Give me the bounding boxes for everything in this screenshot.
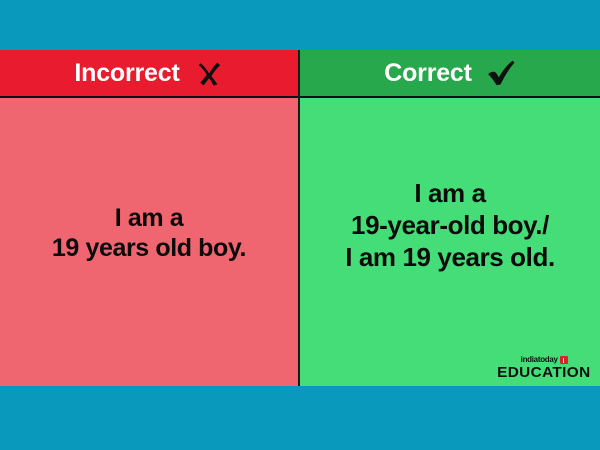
- correct-sentence-line-2: 19-year-old boy./: [306, 210, 594, 242]
- correct-column: Correct I am a 19-year-old boy./ I am 19…: [300, 50, 600, 386]
- correct-header-label: Correct: [384, 61, 472, 86]
- correct-column-header: Correct: [300, 50, 600, 98]
- cross-mark-icon: [194, 58, 224, 88]
- incorrect-header-label: Incorrect: [74, 61, 179, 86]
- incorrect-sentence-line-2: 19 years old boy.: [6, 233, 292, 264]
- comparison-infographic: Incorrect I am a 19 years old boy. Corre…: [0, 50, 600, 386]
- indiatoday-education-logo: indiatoday EDUCATION: [498, 356, 590, 380]
- brand-section-label: EDUCATION: [497, 365, 590, 380]
- incorrect-sentence: I am a 19 years old boy.: [6, 203, 292, 264]
- incorrect-column: Incorrect I am a 19 years old boy.: [0, 50, 300, 386]
- incorrect-column-body: I am a 19 years old boy.: [0, 98, 298, 386]
- brand-name-label: indiatoday: [521, 356, 558, 364]
- incorrect-sentence-line-1: I am a: [6, 203, 292, 234]
- correct-sentence: I am a 19-year-old boy./ I am 19 years o…: [306, 178, 594, 273]
- indiatoday-badge-icon: [560, 356, 568, 364]
- correct-column-body: I am a 19-year-old boy./ I am 19 years o…: [300, 98, 600, 386]
- incorrect-column-header: Incorrect: [0, 50, 298, 98]
- check-mark-icon: [486, 58, 516, 88]
- brand-wordmark-row: indiatoday: [498, 356, 590, 364]
- correct-sentence-line-3: I am 19 years old.: [306, 242, 594, 274]
- correct-sentence-line-1: I am a: [306, 178, 594, 210]
